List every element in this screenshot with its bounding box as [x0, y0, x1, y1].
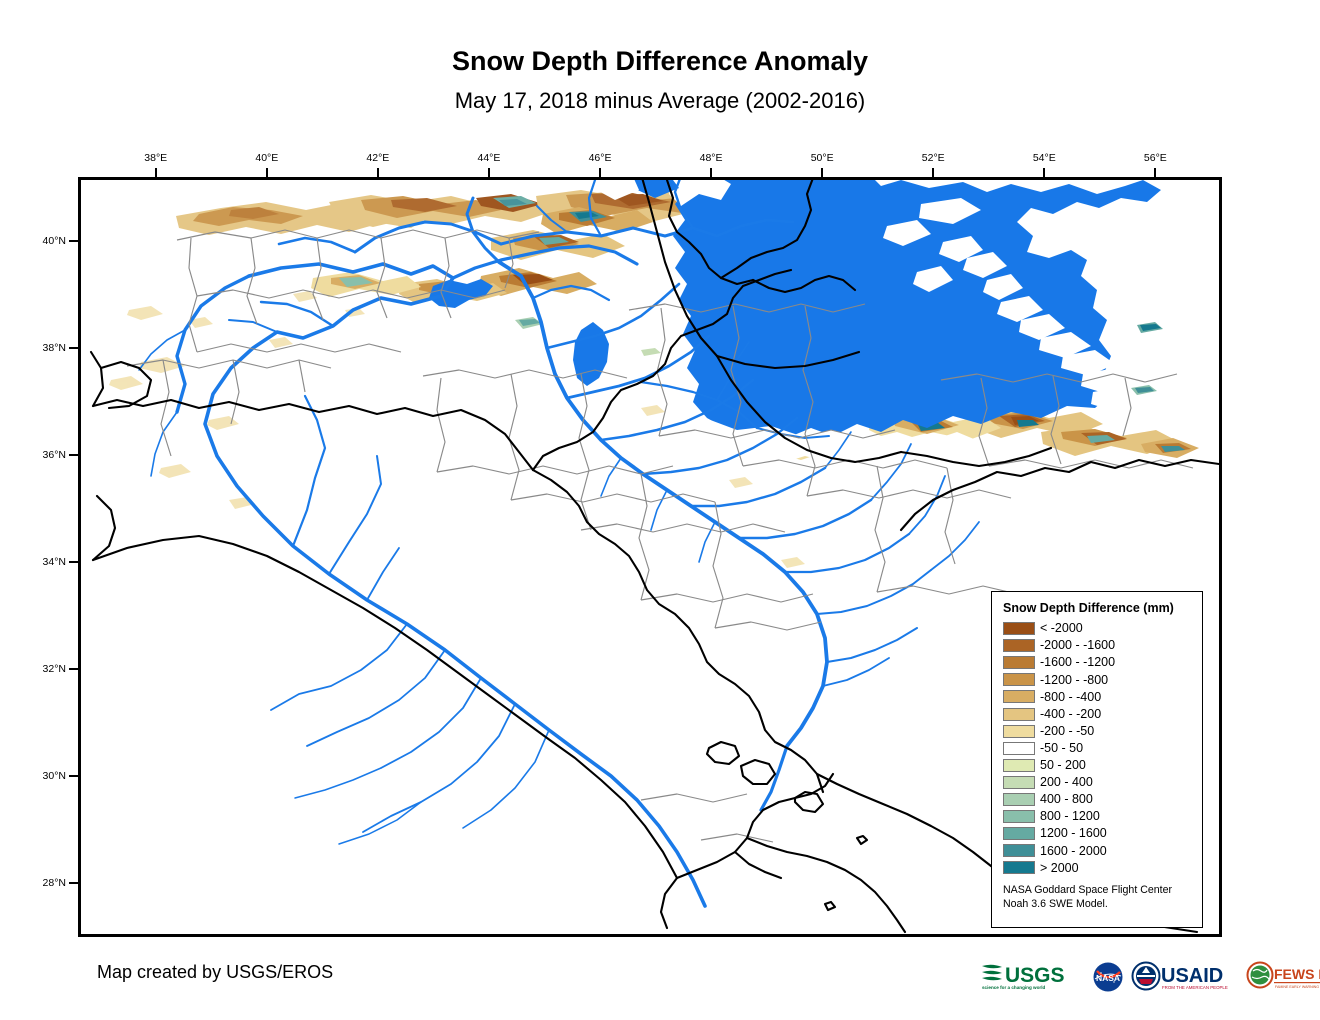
- longitude-tick-label: 48°E: [700, 152, 723, 164]
- legend-entry: -50 - 50: [1003, 740, 1192, 757]
- latitude-tick-mark: [69, 775, 78, 777]
- longitude-tick-label: 56°E: [1144, 152, 1167, 164]
- legend-entry-list: < -2000-2000 - -1600-1600 - -1200-1200 -…: [1003, 620, 1192, 876]
- svg-text:USAID: USAID: [1161, 965, 1223, 987]
- legend-entry: > 2000: [1003, 859, 1192, 876]
- legend-entry-label: -2000 - -1600: [1040, 639, 1115, 652]
- legend-color-swatch: [1003, 725, 1035, 738]
- legend-entry-label: -50 - 50: [1040, 742, 1083, 755]
- map-canvas[interactable]: Snow Depth Difference (mm) < -2000-2000 …: [78, 177, 1222, 937]
- legend-entry-label: -400 - -200: [1040, 708, 1101, 721]
- legend-entry-label: 400 - 800: [1040, 793, 1093, 806]
- legend-entry: 1600 - 2000: [1003, 842, 1192, 859]
- longitude-tick-label: 42°E: [366, 152, 389, 164]
- latitude-tick-label: 28°N: [26, 877, 66, 889]
- latitude-tick-label: 38°N: [26, 342, 66, 354]
- legend-color-swatch: [1003, 639, 1035, 652]
- latitude-tick-mark: [69, 240, 78, 242]
- legend-entry-label: < -2000: [1040, 622, 1083, 635]
- longitude-tick-mark: [1043, 168, 1045, 177]
- legend-entry-label: 1200 - 1600: [1040, 827, 1107, 840]
- legend-entry: -1600 - -1200: [1003, 654, 1192, 671]
- legend-entry: -1200 - -800: [1003, 671, 1192, 688]
- usaid-logo: USAID FROM THE AMERICAN PEOPLE: [1131, 961, 1239, 993]
- legend-entry: -800 - -400: [1003, 688, 1192, 705]
- legend-entry: -200 - -50: [1003, 723, 1192, 740]
- legend-entry: 400 - 800: [1003, 791, 1192, 808]
- page-title: Snow Depth Difference Anomaly: [0, 46, 1320, 77]
- longitude-tick-mark: [1154, 168, 1156, 177]
- legend-entry-label: -800 - -400: [1040, 691, 1101, 704]
- legend-color-swatch: [1003, 844, 1035, 857]
- longitude-tick-label: 40°E: [255, 152, 278, 164]
- longitude-tick-label: 38°E: [144, 152, 167, 164]
- longitude-tick-label: 52°E: [922, 152, 945, 164]
- legend-entry-label: 200 - 400: [1040, 776, 1093, 789]
- usgs-logo: USGS science for a changing world: [980, 962, 1085, 992]
- legend-entry-label: -1200 - -800: [1040, 674, 1108, 687]
- longitude-tick-label: 46°E: [589, 152, 612, 164]
- legend-color-swatch: [1003, 827, 1035, 840]
- legend-entry: < -2000: [1003, 620, 1192, 637]
- svg-text:FROM THE AMERICAN PEOPLE: FROM THE AMERICAN PEOPLE: [1162, 985, 1228, 990]
- map-page: Snow Depth Difference Anomaly May 17, 20…: [0, 0, 1320, 1020]
- legend-entry-label: 50 - 200: [1040, 759, 1086, 772]
- legend-color-swatch: [1003, 656, 1035, 669]
- longitude-tick-mark: [710, 168, 712, 177]
- legend-entry-label: 800 - 1200: [1040, 810, 1100, 823]
- legend-color-swatch: [1003, 776, 1035, 789]
- longitude-tick-mark: [599, 168, 601, 177]
- legend-entry: 200 - 400: [1003, 774, 1192, 791]
- latitude-tick-label: 32°N: [26, 663, 66, 675]
- legend-color-swatch: [1003, 810, 1035, 823]
- latitude-tick-mark: [69, 668, 78, 670]
- latitude-tick-label: 36°N: [26, 449, 66, 461]
- legend-entry-label: 1600 - 2000: [1040, 845, 1107, 858]
- latitude-tick-label: 40°N: [26, 235, 66, 247]
- legend-entry: 1200 - 1600: [1003, 825, 1192, 842]
- longitude-tick-label: 44°E: [477, 152, 500, 164]
- legend-source-note: NASA Goddard Space Flight Center Noah 3.…: [1003, 884, 1192, 911]
- fews-net-logo: FEWS NET FAMINE EARLY WARNING SYSTEMS NE…: [1246, 961, 1320, 993]
- legend-title: Snow Depth Difference (mm): [1003, 601, 1192, 615]
- legend-color-swatch: [1003, 690, 1035, 703]
- longitude-tick-label: 50°E: [811, 152, 834, 164]
- agency-logo-bar: USGS science for a changing world NASA U…: [980, 958, 1320, 996]
- legend-entry-label: > 2000: [1040, 862, 1079, 875]
- longitude-tick-mark: [488, 168, 490, 177]
- legend-entry: -2000 - -1600: [1003, 637, 1192, 654]
- longitude-tick-mark: [932, 168, 934, 177]
- legend-color-swatch: [1003, 742, 1035, 755]
- latitude-tick-mark: [69, 561, 78, 563]
- longitude-tick-mark: [266, 168, 268, 177]
- legend-color-swatch: [1003, 708, 1035, 721]
- svg-text:FAMINE EARLY WARNING SYSTEMS N: FAMINE EARLY WARNING SYSTEMS NETWORK: [1275, 985, 1320, 989]
- legend-color-swatch: [1003, 793, 1035, 806]
- nasa-logo: NASA: [1092, 961, 1124, 993]
- latitude-tick-label: 34°N: [26, 556, 66, 568]
- longitude-tick-mark: [377, 168, 379, 177]
- longitude-tick-label: 54°E: [1033, 152, 1056, 164]
- legend-color-swatch: [1003, 622, 1035, 635]
- legend-entry: -400 - -200: [1003, 705, 1192, 722]
- legend-entry-label: -200 - -50: [1040, 725, 1094, 738]
- legend-entry: 800 - 1200: [1003, 808, 1192, 825]
- legend-color-swatch: [1003, 861, 1035, 874]
- legend-entry-label: -1600 - -1200: [1040, 656, 1115, 669]
- svg-text:USGS: USGS: [1005, 964, 1065, 987]
- svg-text:FEWS NET: FEWS NET: [1274, 966, 1320, 982]
- page-subtitle: May 17, 2018 minus Average (2002-2016): [0, 88, 1320, 114]
- longitude-tick-mark: [821, 168, 823, 177]
- legend-color-swatch: [1003, 759, 1035, 772]
- map-legend: Snow Depth Difference (mm) < -2000-2000 …: [991, 591, 1203, 928]
- legend-entry: 50 - 200: [1003, 757, 1192, 774]
- svg-text:NASA: NASA: [1096, 973, 1120, 983]
- legend-color-swatch: [1003, 673, 1035, 686]
- latitude-tick-label: 30°N: [26, 770, 66, 782]
- latitude-tick-mark: [69, 882, 78, 884]
- map-credit: Map created by USGS/EROS: [97, 962, 333, 983]
- latitude-tick-mark: [69, 347, 78, 349]
- longitude-tick-mark: [155, 168, 157, 177]
- latitude-tick-mark: [69, 454, 78, 456]
- svg-text:science for a changing world: science for a changing world: [982, 985, 1045, 990]
